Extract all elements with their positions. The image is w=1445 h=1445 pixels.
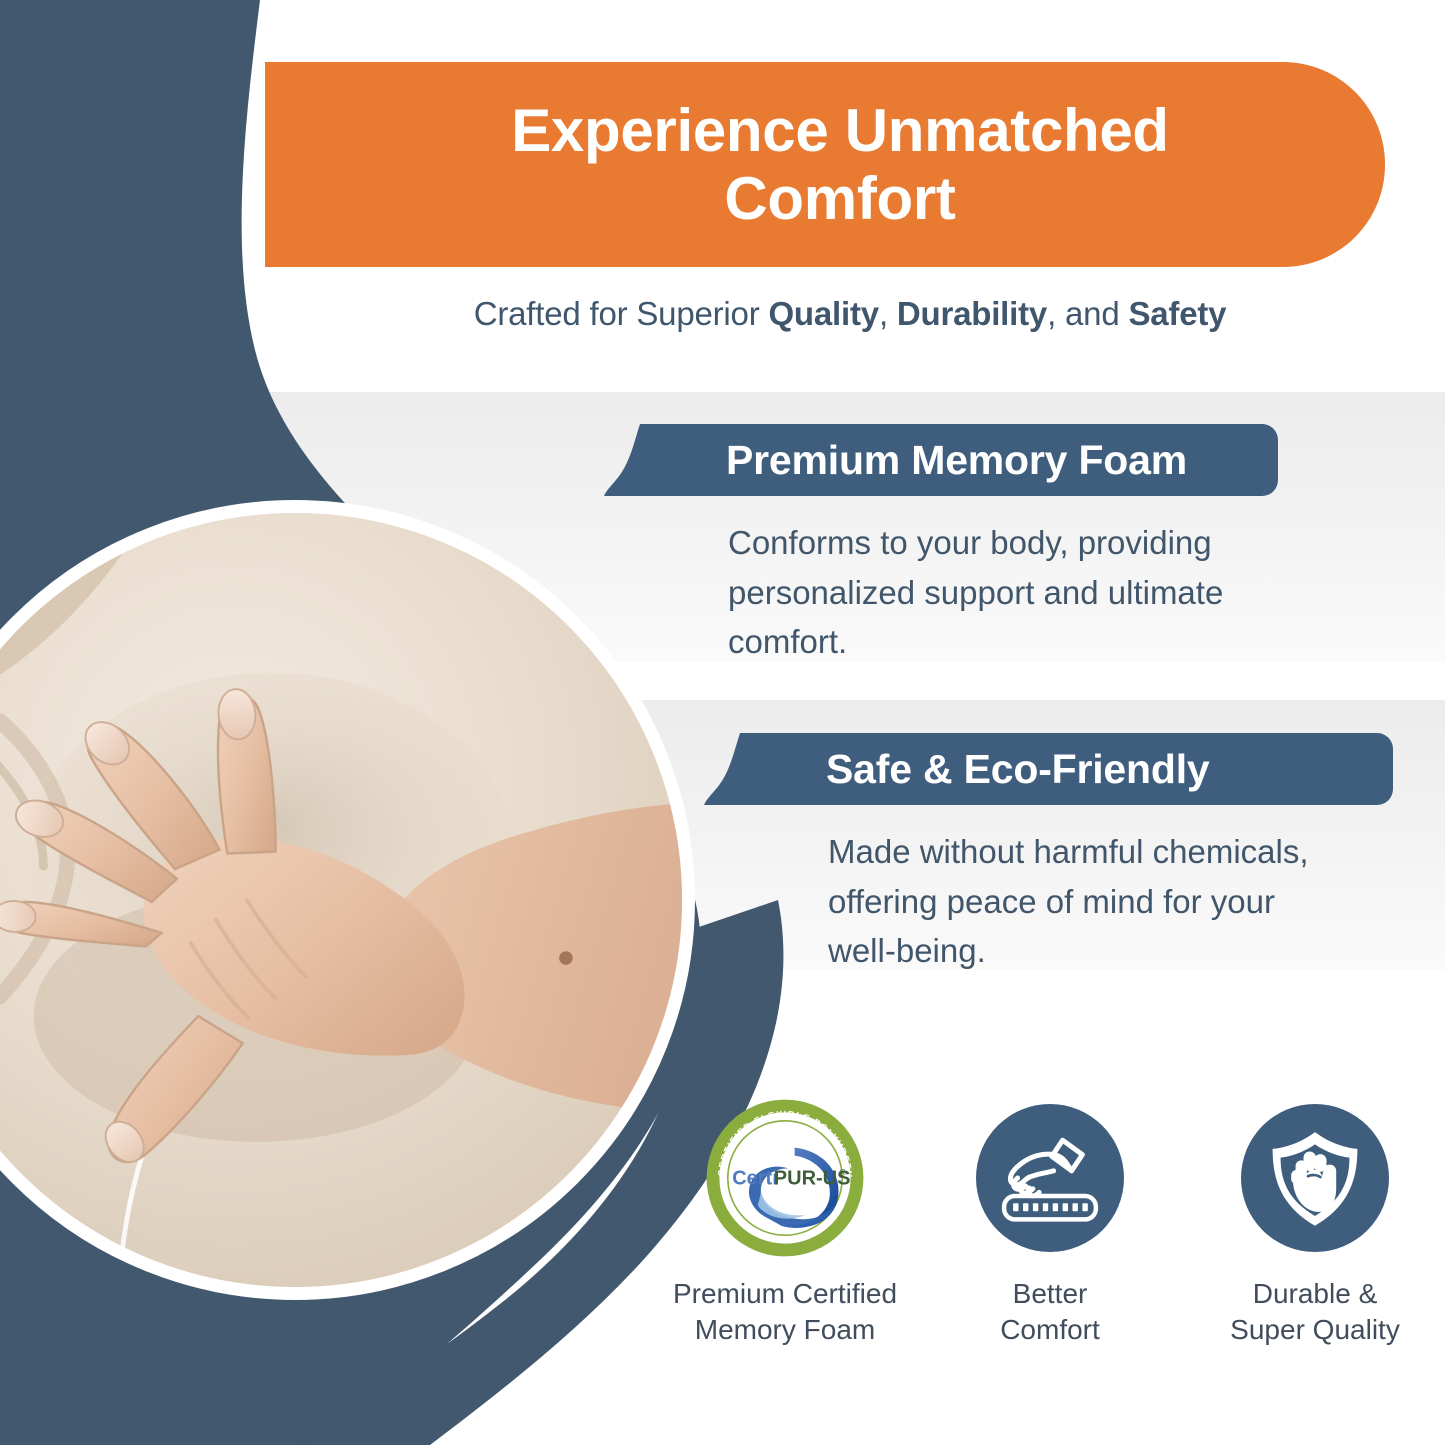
badge-certipur-us: CONTAINS CERTIFIED FLEXIBLE POLYURETHANE… (660, 1098, 910, 1348)
infographic-canvas: Experience Unmatched Comfort Crafted for… (0, 0, 1445, 1445)
badge-caption-line-1: Durable & (1230, 1276, 1400, 1312)
badge-caption-line-2: Memory Foam (673, 1312, 897, 1348)
subtitle-emphasis-durability: Durability (897, 295, 1047, 332)
trust-badge-row: CONTAINS CERTIFIED FLEXIBLE POLYURETHANE… (660, 1098, 1440, 1348)
seal-wordmark-certi: Certi (732, 1167, 778, 1189)
badge-caption: Premium Certified Memory Foam (673, 1276, 897, 1348)
feature-description: Made without harmful chemicals, offering… (748, 827, 1348, 976)
memory-foam-hand-photo (0, 513, 682, 1287)
feature-block-eco-friendly: Safe & Eco-Friendly Made without harmful… (748, 733, 1408, 976)
subtitle-prefix: Crafted for Superior (474, 295, 769, 332)
subtitle-separator-2: , and (1047, 295, 1128, 332)
badge-caption-line-2: Comfort (1000, 1312, 1100, 1348)
shield-fist-icon (1241, 1104, 1389, 1252)
subtitle-separator-1: , (879, 295, 897, 332)
feature-title-banner: Premium Memory Foam (648, 424, 1278, 496)
badge-better-comfort: Better Comfort (925, 1098, 1175, 1348)
certipur-us-seal-icon: CONTAINS CERTIFIED FLEXIBLE POLYURETHANE… (705, 1098, 865, 1258)
feature-title: Safe & Eco-Friendly (826, 746, 1210, 793)
banner-ribbon-tail-icon (704, 733, 784, 805)
badge-caption: Better Comfort (1000, 1276, 1100, 1348)
badge-durable-quality: Durable & Super Quality (1190, 1098, 1440, 1348)
badge-caption-line-1: Better (1000, 1276, 1100, 1312)
subtitle-emphasis-safety: Safety (1128, 295, 1226, 332)
header-banner: Experience Unmatched Comfort (265, 62, 1385, 267)
seal-registered-mark: ® (839, 1168, 846, 1178)
hand-pressing-mattress-icon (976, 1104, 1124, 1252)
feature-title-banner: Safe & Eco-Friendly (748, 733, 1393, 805)
header-subtitle: Crafted for Superior Quality, Durability… (330, 295, 1370, 333)
banner-ribbon-tail-icon (604, 424, 684, 496)
feature-title: Premium Memory Foam (726, 437, 1187, 484)
product-photo-circle (0, 500, 695, 1300)
badge-caption-line-2: Super Quality (1230, 1312, 1400, 1348)
feature-description: Conforms to your body, providing persona… (648, 518, 1338, 667)
badge-caption: Durable & Super Quality (1230, 1276, 1400, 1348)
page-title: Experience Unmatched Comfort (325, 97, 1325, 231)
badge-caption-line-1: Premium Certified (673, 1276, 897, 1312)
subtitle-emphasis-quality: Quality (768, 295, 878, 332)
feature-block-memory-foam: Premium Memory Foam Conforms to your bod… (648, 424, 1408, 667)
